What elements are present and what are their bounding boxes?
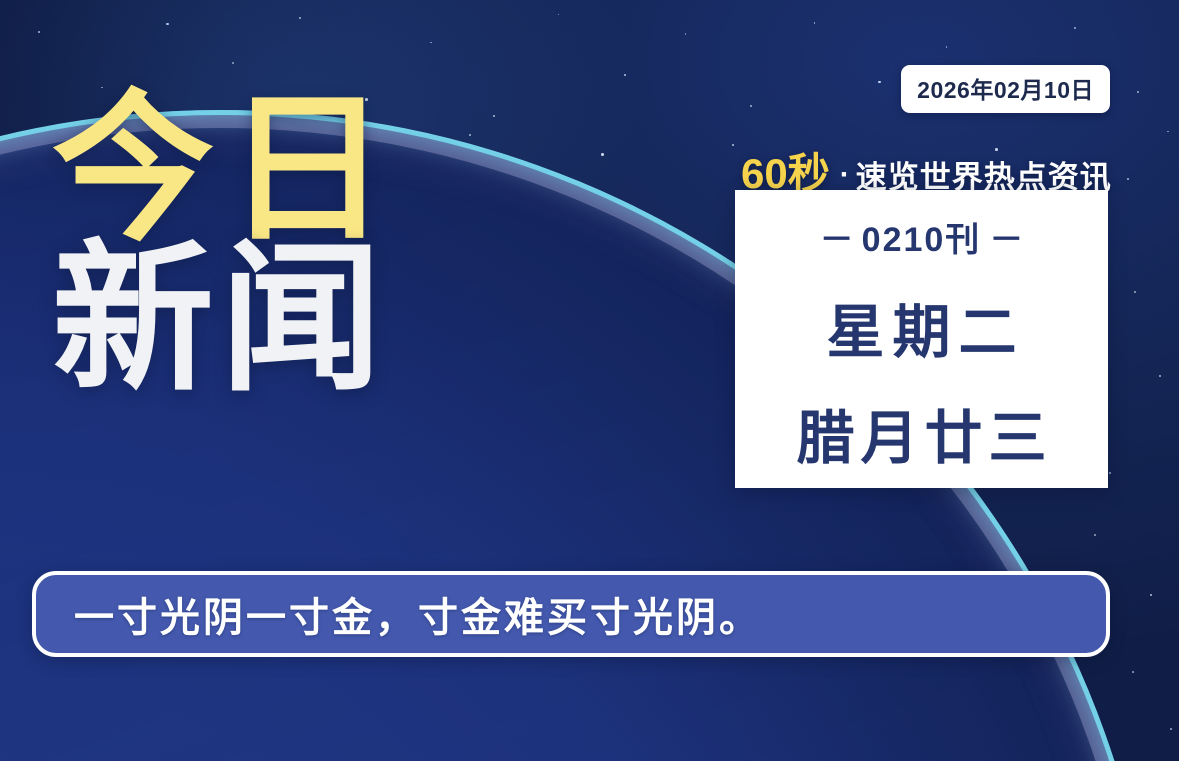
tagline-separator-dot: ·: [840, 158, 850, 192]
issue-dash-left: －: [812, 221, 862, 259]
weekday-label: 星期二: [818, 285, 1024, 369]
page-title-line2: 新闻: [52, 242, 400, 398]
star: [430, 42, 432, 44]
star: [1127, 178, 1129, 180]
star: [1159, 375, 1161, 377]
issue-number: 0210刊: [862, 221, 982, 259]
star: [1137, 91, 1139, 93]
lunar-date-label: 腊月廿三: [790, 391, 1052, 475]
star: [1132, 671, 1134, 673]
page-title-line1: 今日: [52, 92, 400, 248]
star: [469, 134, 471, 136]
quote-bar: 一寸光阴一寸金，寸金难买寸光阴。: [32, 571, 1110, 657]
star: [1150, 594, 1152, 596]
star: [750, 105, 752, 107]
star: [1094, 534, 1096, 536]
star: [493, 115, 495, 117]
page-title: 今日 新闻: [52, 92, 400, 397]
star: [1167, 131, 1169, 133]
issue-dash-right: －: [981, 221, 1031, 259]
star: [878, 81, 881, 84]
info-card: －0210刊－ 星期二 腊月廿三: [735, 190, 1108, 488]
star: [1134, 291, 1136, 293]
news-poster: 2026年02月10日 今日 新闻 60秒 · 速览世界热点资讯 －0210刊－…: [0, 0, 1179, 761]
issue-line: －0210刊－: [812, 212, 1032, 261]
star: [1109, 472, 1111, 474]
star: [38, 31, 40, 33]
star: [732, 144, 734, 146]
star: [1074, 27, 1076, 29]
star: [558, 14, 560, 16]
quote-text: 一寸光阴一寸金，寸金难买寸光阴。: [36, 585, 762, 643]
star: [1170, 728, 1172, 730]
star: [946, 46, 948, 48]
star: [232, 62, 233, 63]
star: [685, 33, 686, 34]
star: [299, 17, 301, 19]
star: [814, 22, 816, 24]
star: [624, 74, 626, 76]
star: [601, 153, 604, 156]
date-badge: 2026年02月10日: [901, 65, 1110, 113]
star: [166, 23, 168, 25]
